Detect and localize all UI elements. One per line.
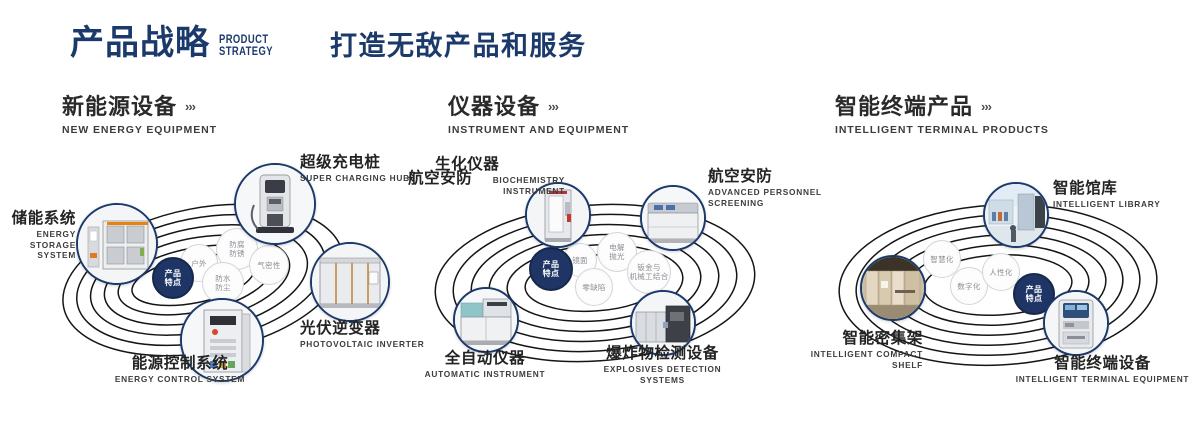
product-features-badge: 产品 特点: [529, 247, 573, 291]
section-header-new-energy: 新能源设备››› NEW ENERGY EQUIPMENT: [62, 96, 217, 136]
node-label-cn: 航空安防: [408, 170, 472, 187]
cluster-instrument: 镜面 电解 抛光 钣金与 机械工结合 零缺陷 产品 特点 生化仪器 BIOCHE…: [395, 150, 795, 415]
chevron-right-icons: ›››: [185, 100, 195, 113]
node-label-cn: 能源控制系统: [80, 355, 280, 372]
chevron-right-icons: ›››: [548, 100, 558, 113]
section-title-cn: 仪器设备›››: [448, 96, 629, 118]
node-label-en: INTELLIGENT TERMINAL EQUIPMENT: [1010, 374, 1195, 384]
section-title-cn: 新能源设备›››: [62, 96, 217, 118]
feature-bubble: 钣金与 机械工结合: [627, 250, 671, 294]
section-header-intelligent-terminal: 智能终端产品››› INTELLIGENT TERMINAL PRODUCTS: [835, 96, 1049, 136]
page-title-en: PRODUCT STRATEGY: [219, 35, 273, 58]
label-energy-storage-system: 储能系统 ENERGY STORAGE SYSTEM: [0, 210, 76, 260]
node-label-en: INTELLIGENT LIBRARY: [1053, 199, 1193, 209]
feature-bubble: 气密性: [249, 245, 289, 285]
page-header: 产品战略 PRODUCT STRATEGY: [70, 26, 285, 60]
node-label-en: EXPLOSIVES DETECTION SYSTEMS: [580, 364, 745, 385]
node-label-en: INTELLIGENT COMPACT SHELF: [795, 349, 923, 370]
page-subtitle: 打造无敌产品和服务: [330, 33, 587, 60]
cluster-intelligent-terminal: 智慧化 数字化 人性化 产品 特点 智能馆库 INTELLIGENT LIBRA…: [795, 150, 1195, 415]
node-label-en: AUTOMATIC INSTRUMENT: [405, 369, 565, 379]
node-label-en: ENERGY CONTROL SYSTEM: [80, 374, 280, 384]
label-intelligent-library: 智能馆库 INTELLIGENT LIBRARY: [1053, 180, 1193, 210]
node-intelligent-library[interactable]: [983, 182, 1049, 248]
node-label-en: ENERGY STORAGE SYSTEM: [0, 229, 76, 260]
node-label-cn: 全自动仪器: [405, 350, 565, 367]
library-room-icon: [985, 184, 1047, 246]
node-label-cn: 智能馆库: [1053, 180, 1193, 197]
page-title-cn: 产品战略: [70, 26, 210, 60]
cluster-new-energy: 户外 防腐 防锈 防水 防尘 气密性 产品 特点 储能系统 ENERGY S: [0, 150, 400, 415]
chevron-right-icons: ›››: [981, 100, 991, 113]
label-intelligent-terminal-equipment: 智能终端设备 INTELLIGENT TERMINAL EQUIPMENT: [1010, 355, 1195, 385]
product-features-badge: 产品 特点: [152, 257, 194, 299]
battery-cabinet-icon: [78, 205, 156, 283]
pv-inverter-icon: [312, 244, 388, 320]
node-label-cn: 爆炸物检测设备: [580, 345, 745, 362]
screening-machine-icon: [642, 187, 704, 249]
node-label-cn: 储能系统: [0, 210, 76, 227]
section-title-en: INSTRUMENT AND EQUIPMENT: [448, 124, 629, 136]
node-label-cn: 智能终端设备: [1010, 355, 1195, 372]
node-intelligent-compact-shelf[interactable]: [860, 255, 926, 321]
compact-shelf-icon: [862, 257, 924, 319]
section-title-cn: 智能终端产品›››: [835, 96, 1049, 118]
node-label-cn: 智能密集架: [795, 330, 923, 347]
node-intelligent-terminal-equipment[interactable]: [1043, 290, 1109, 356]
label-explosives-detection-systems: 爆炸物检测设备 EXPLOSIVES DETECTION SYSTEMS: [580, 345, 745, 385]
section-title-en: INTELLIGENT TERMINAL PRODUCTS: [835, 124, 1049, 136]
feature-bubble: 零缺陷: [575, 268, 613, 306]
auto-instrument-icon: [455, 289, 517, 351]
node-energy-storage-system[interactable]: [76, 203, 158, 285]
product-strategy-infographic: 产品战略 PRODUCT STRATEGY 打造无敌产品和服务 新能源设备›››…: [0, 0, 1200, 422]
node-advanced-personnel-screening[interactable]: [640, 185, 706, 251]
label-intelligent-compact-shelf: 智能密集架 INTELLIGENT COMPACT SHELF: [795, 330, 923, 370]
label-aviation-security-overlap: 航空安防: [408, 170, 472, 187]
node-automatic-instrument[interactable]: [453, 287, 519, 353]
label-automatic-instrument: 全自动仪器 AUTOMATIC INSTRUMENT: [405, 350, 565, 380]
node-photovoltaic-inverter[interactable]: [310, 242, 390, 322]
self-service-kiosk-icon: [1045, 292, 1107, 354]
section-title-en: NEW ENERGY EQUIPMENT: [62, 124, 217, 136]
section-header-instrument: 仪器设备››› INSTRUMENT AND EQUIPMENT: [448, 96, 629, 136]
label-energy-control-system: 能源控制系统 ENERGY CONTROL SYSTEM: [80, 355, 280, 385]
